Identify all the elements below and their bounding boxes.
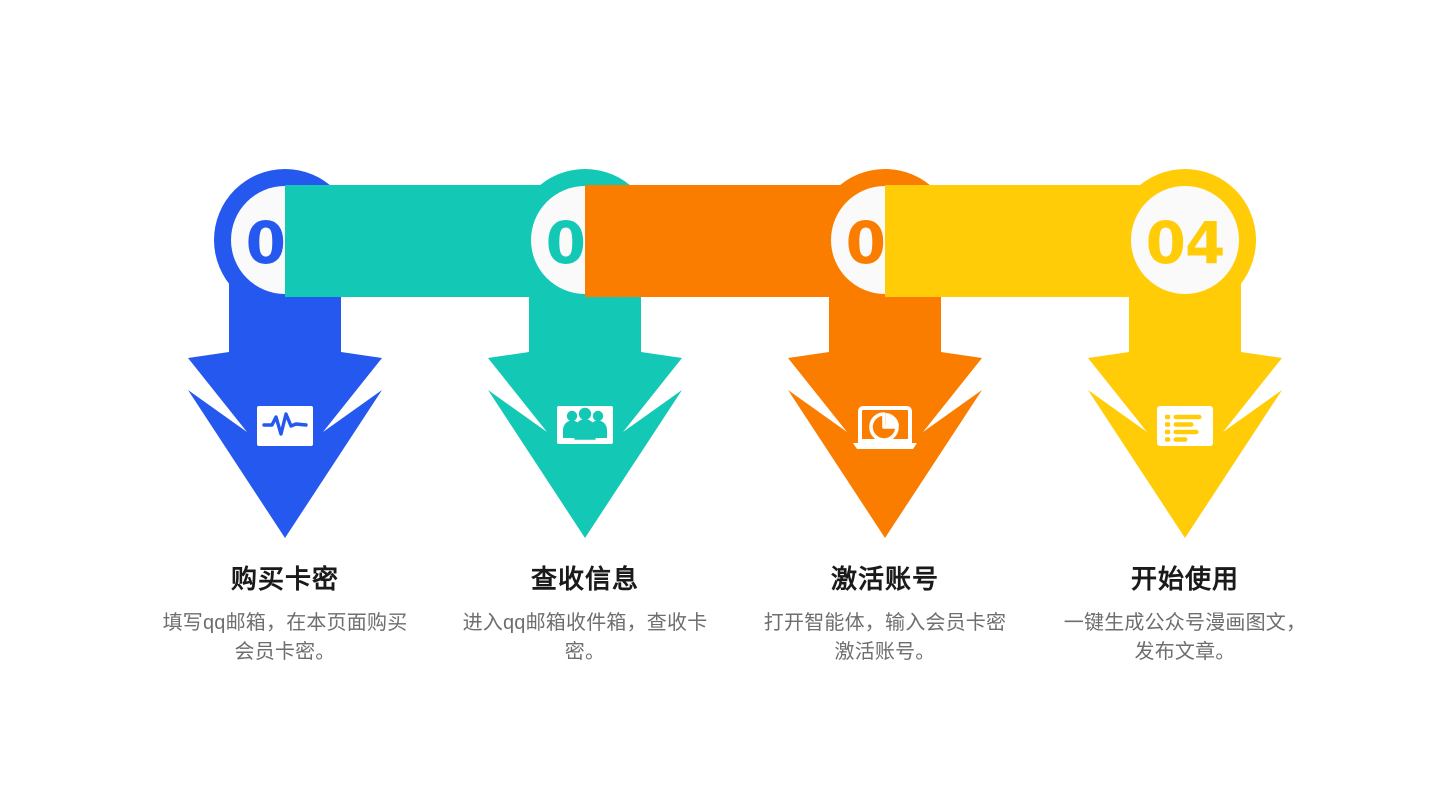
monitor-list-icon xyxy=(1157,406,1213,446)
monitor-pulse-icon xyxy=(257,406,313,446)
step-caption-2: 查收信息 进入qq邮箱收件箱，查收卡密。 xyxy=(435,565,735,667)
step-title-1: 购买卡密 xyxy=(135,565,435,595)
step-caption-3: 激活账号 打开智能体，输入会员卡密激活账号。 xyxy=(735,565,1035,667)
step-description-2: 进入qq邮箱收件箱，查收卡密。 xyxy=(460,609,710,667)
step-title-4: 开始使用 xyxy=(1035,565,1335,595)
captions-row: 购买卡密 填写qq邮箱，在本页面购买会员卡密。 查收信息 进入qq邮箱收件箱，查… xyxy=(0,565,1440,705)
step-caption-1: 购买卡密 填写qq邮箱，在本页面购买会员卡密。 xyxy=(135,565,435,667)
step-caption-4: 开始使用 一键生成公众号漫画图文，发布文章。 xyxy=(1035,565,1335,667)
step-title-3: 激活账号 xyxy=(735,565,1035,595)
step-title-2: 查收信息 xyxy=(435,565,735,595)
infographic-canvas: 01020304 购买卡密 填写qq邮箱，在本页面购买会员卡密。 查收信息 进入… xyxy=(0,0,1440,810)
step-description-3: 打开智能体，输入会员卡密激活账号。 xyxy=(760,609,1010,667)
step-description-4: 一键生成公众号漫画图文，发布文章。 xyxy=(1060,609,1310,667)
monitor-people-icon xyxy=(557,406,613,444)
step-number-4: 04 xyxy=(1146,209,1225,277)
down-arrow-2 xyxy=(488,352,682,538)
step-description-1: 填写qq邮箱，在本页面购买会员卡密。 xyxy=(160,609,410,667)
